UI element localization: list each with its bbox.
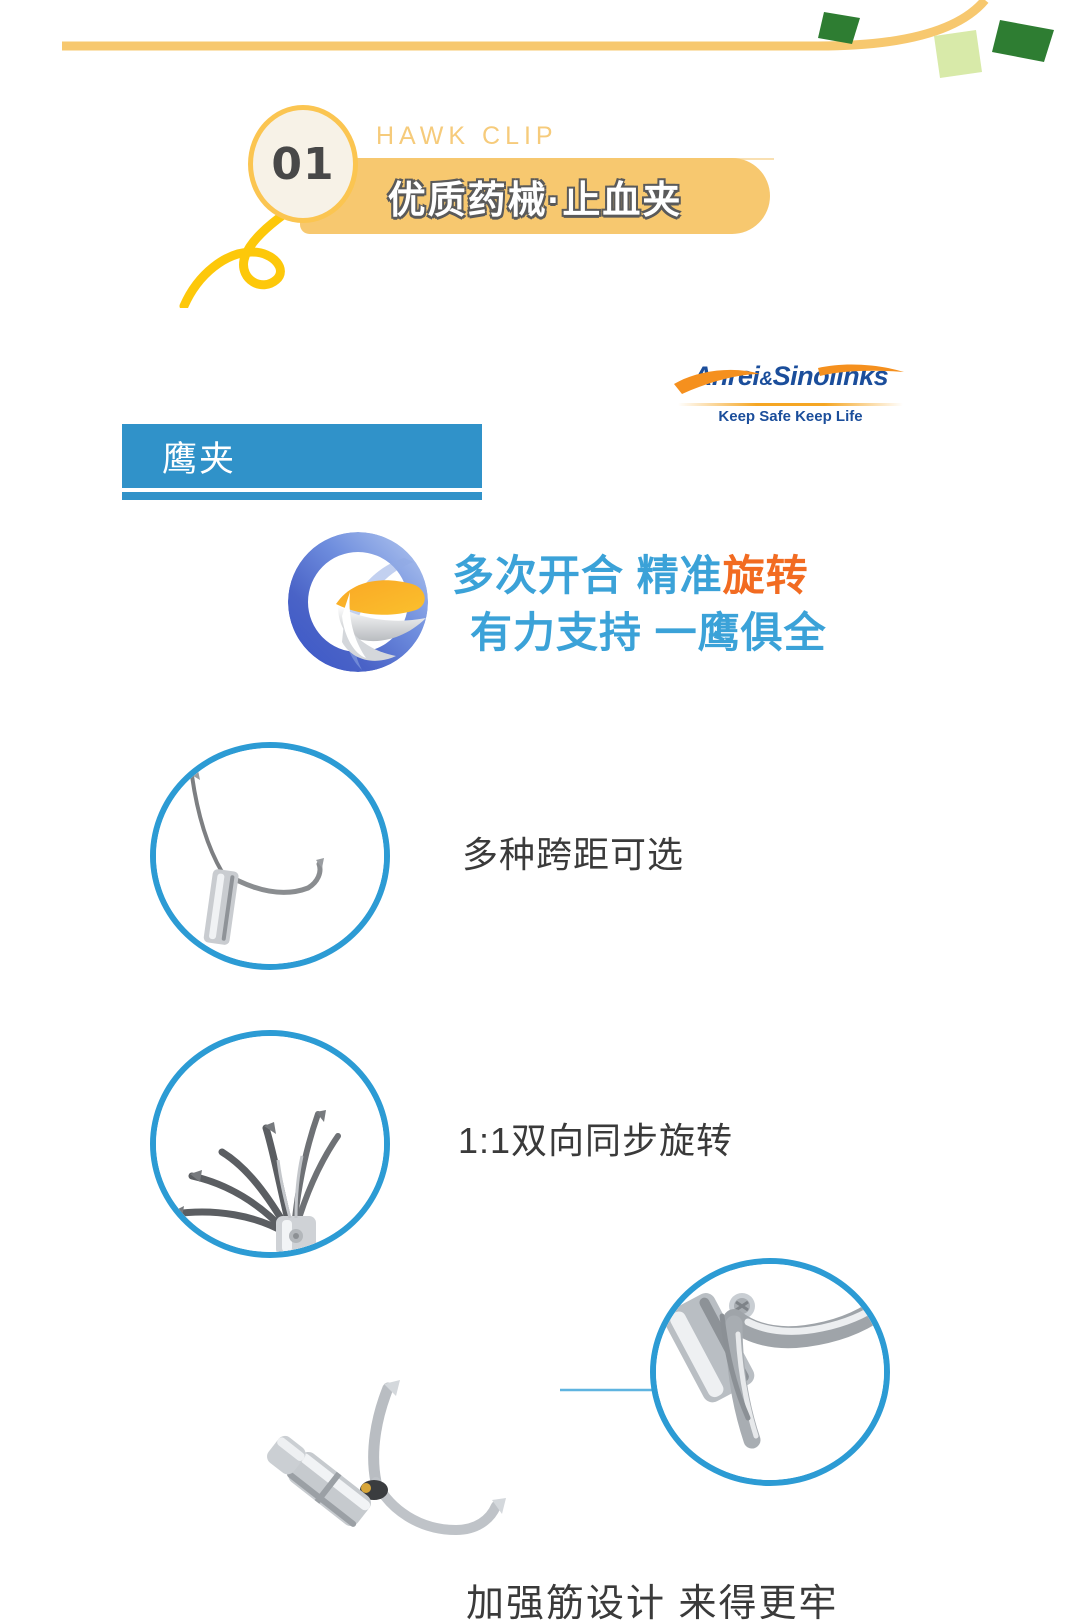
section-number: 01: [271, 139, 334, 190]
hawk-clip-multi-jaw-photo: [156, 1036, 384, 1252]
hawk-clip-rib-closeup-photo: [656, 1264, 884, 1480]
feature-1-label: 多种跨距可选: [462, 826, 684, 878]
feature-2-photo-circle: [150, 1030, 390, 1258]
slogan-line-1: 多次开合 精准旋转: [452, 548, 922, 605]
hawk-clip-open-jaws-photo: [156, 748, 384, 964]
slogan-block: 多次开合 精准旋转 有力支持 一鹰俱全: [452, 548, 922, 661]
bottom-caption: 加强筋设计 来得更牢: [466, 1572, 839, 1620]
section-banner-underline: [122, 492, 482, 500]
product-detail-page: 优质药械·止血夹 HAWK CLIP 01 Anrei&Sinolinks Ke…: [0, 0, 1074, 1620]
slogan-line-1-plain: 多次开合 精准: [452, 552, 723, 599]
chinese-title-text: 优质药械·止血夹: [300, 158, 770, 234]
section-banner-title: 鹰夹: [162, 424, 236, 488]
eagle-head-logo-icon: [286, 530, 431, 675]
slogan-line-1-highlight: 旋转: [723, 552, 809, 599]
brand-tagline: Keep Safe Keep Life: [668, 408, 913, 425]
section-banner: 鹰夹: [122, 424, 482, 488]
brand-logo: Anrei&Sinolinks Keep Safe Keep Life: [668, 360, 913, 430]
chinese-title-bar: 优质药械·止血夹: [300, 158, 770, 234]
brand-swoosh-icon: [668, 360, 913, 408]
brand-underline: [678, 403, 903, 406]
bottom-zoom-photo-circle: [650, 1258, 890, 1486]
section-header-badge: 优质药械·止血夹 HAWK CLIP 01: [178, 100, 798, 300]
english-title: HAWK CLIP: [376, 122, 558, 151]
section-number-circle: 01: [248, 105, 358, 223]
slogan-line-2: 有力支持 一鹰俱全: [452, 605, 922, 662]
feature-1-photo-circle: [150, 742, 390, 970]
feature-2-label: 1:1双向同步旋转: [458, 1112, 733, 1164]
top-decoration: [0, 0, 1074, 90]
